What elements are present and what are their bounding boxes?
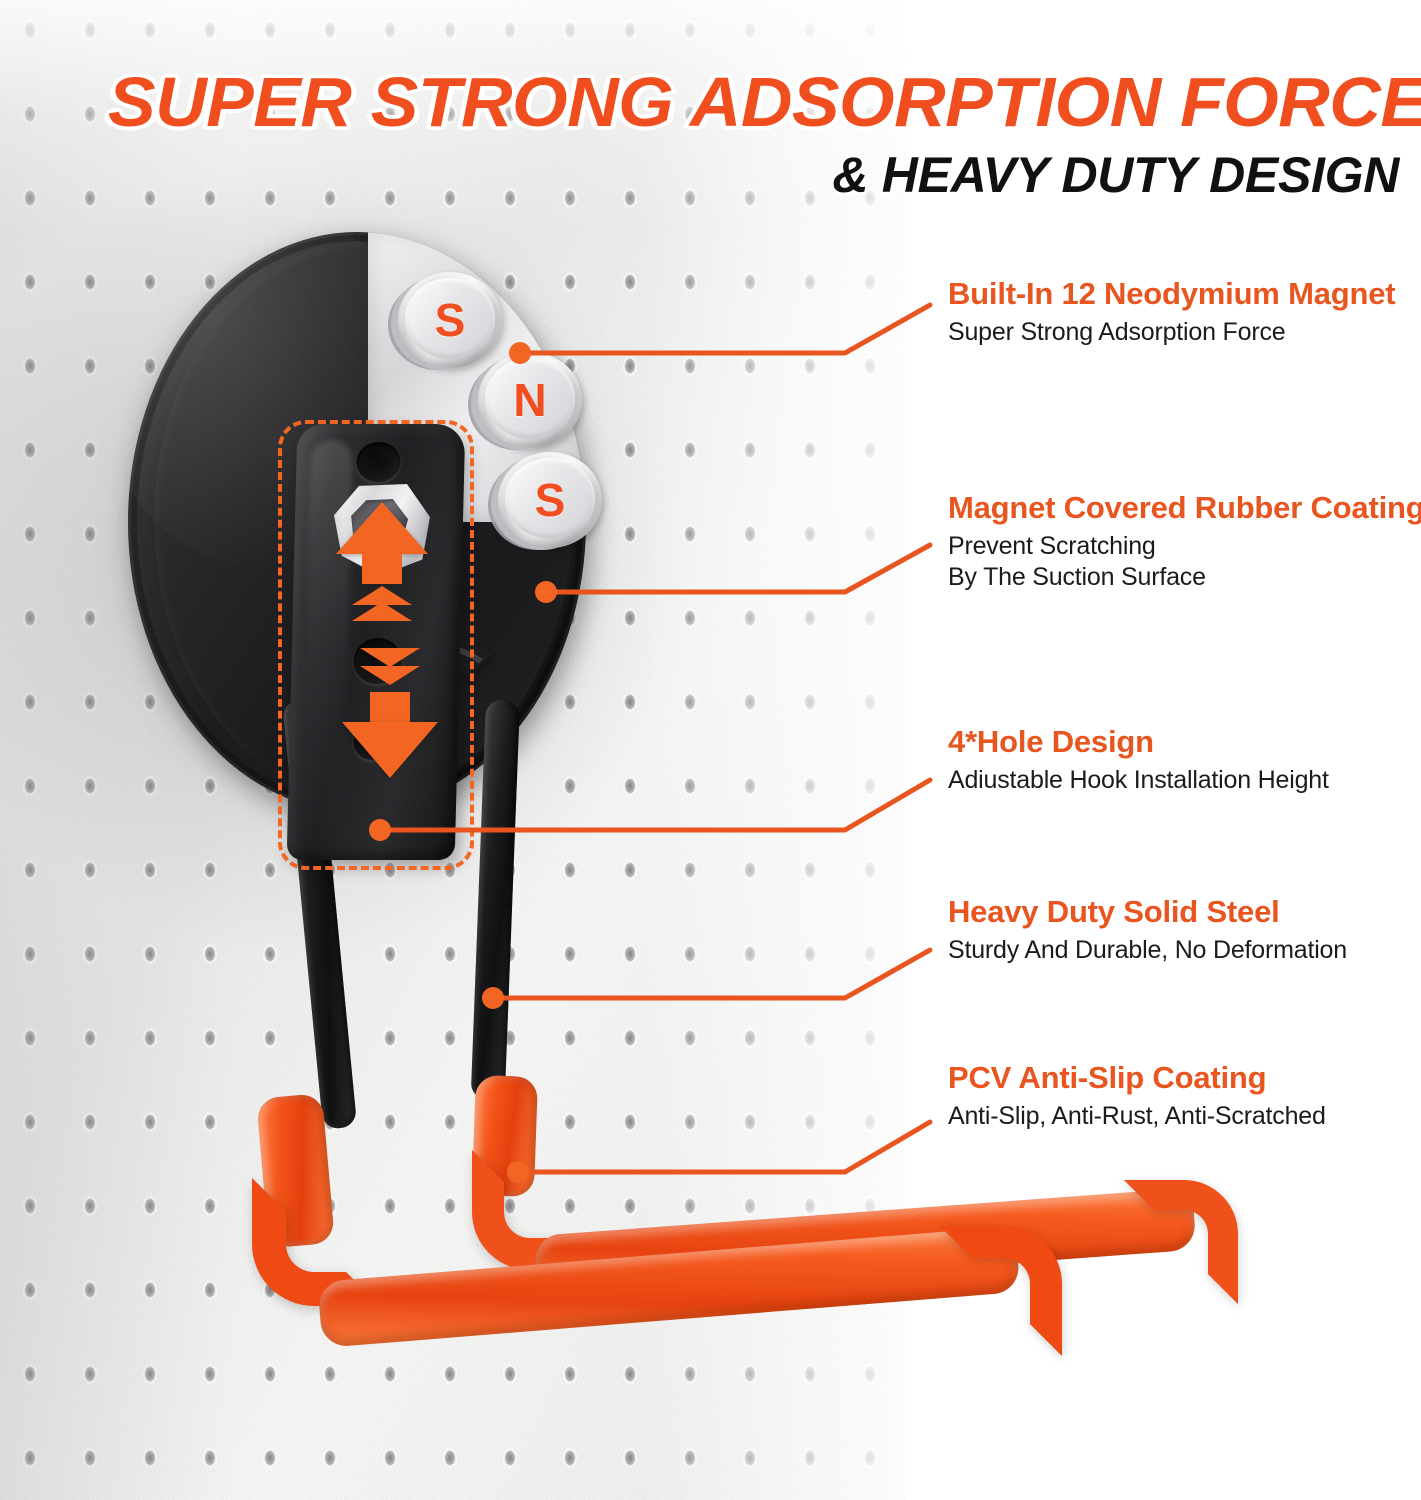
callout-title: 4*Hole Design [948,724,1421,760]
callout-rubber-coating: Magnet Covered Rubber Coating Prevent Sc… [948,490,1421,594]
headline-secondary: & HEAVY DUTY DESIGN [832,146,1399,204]
arrow-up-stem [362,550,402,584]
callout-subtitle-line: Sturdy And Durable, No Deformation [948,935,1421,967]
neodymium-magnet-south-lower: S [498,452,602,548]
arrow-down-head-icon [342,722,438,778]
chevron-down-icon-2 [360,666,420,685]
callout-title: Magnet Covered Rubber Coating [948,490,1421,526]
pvc-hook-tip-front [940,1226,1062,1356]
chevron-up-icon-2 [352,602,412,621]
callout-subtitle-line: Anti-Slip, Anti-Rust, Anti-Scratched [948,1101,1421,1133]
hole-design-highlight-rect [278,420,474,870]
infographic-stage: SUPER STRONG ADSORPTION FORCE & HEAVY DU… [0,0,1421,1500]
callout-subtitle-line: By The Suction Surface [948,562,1421,594]
callout-subtitle-line: Prevent Scratching [948,531,1421,563]
callout-title: Built-In 12 Neodymium Magnet [948,276,1421,312]
callout-subtitle-line: Super Strong Adsorption Force [948,317,1421,349]
callout-title: Heavy Duty Solid Steel [948,894,1421,930]
magnet-pole-label: S [498,452,602,548]
callout-anti-slip-coating: PCV Anti-Slip Coating Anti-Slip, Anti-Ru… [948,1060,1421,1132]
neodymium-magnet-north: N [478,352,582,448]
headline-primary: SUPER STRONG ADSORPTION FORCE [108,62,1421,142]
callout-title: PCV Anti-Slip Coating [948,1060,1421,1096]
chevron-down-icon-1 [360,648,420,667]
adjust-down-arrow [342,648,438,778]
arrow-down-stem [370,692,410,726]
headline-block: SUPER STRONG ADSORPTION FORCE & HEAVY DU… [0,56,1421,206]
callout-neodymium-magnet: Built-In 12 Neodymium Magnet Super Stron… [948,276,1421,348]
arrow-up-head-icon [336,502,428,554]
callout-solid-steel: Heavy Duty Solid Steel Sturdy And Durabl… [948,894,1421,966]
callout-subtitle-line: Adiustable Hook Installation Height [948,765,1421,797]
pvc-hook-tip-back [1124,1180,1238,1304]
callout-hole-design: 4*Hole Design Adiustable Hook Installati… [948,724,1421,796]
magnet-pole-label: N [478,352,582,448]
adjust-up-arrow [336,502,428,620]
